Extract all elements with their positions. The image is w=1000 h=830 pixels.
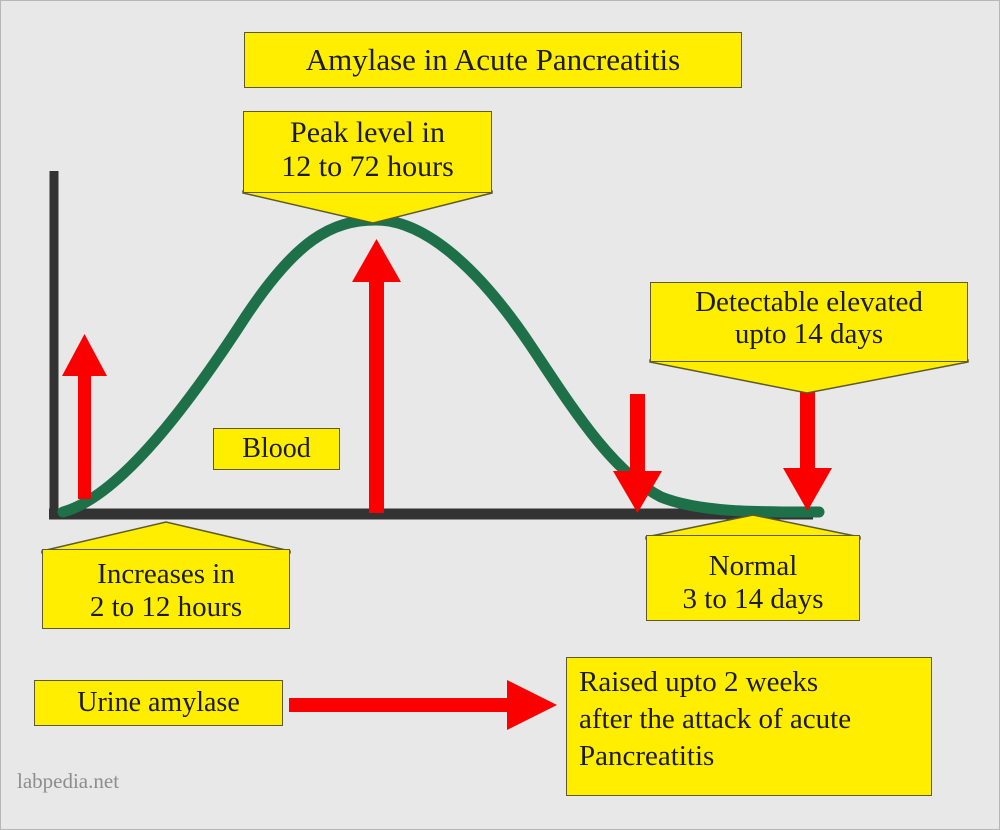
peak-level-callout: Peak level in 12 to 72 hours xyxy=(243,111,492,193)
detectable-callout-tail xyxy=(650,360,968,393)
detectable-elevated-label: Detectable elevated upto 14 days xyxy=(651,286,967,351)
normal-label: Normal 3 to 14 days xyxy=(647,550,859,615)
arrow-urine-right xyxy=(289,680,557,730)
increases-callout: Increases in 2 to 12 hours xyxy=(42,549,290,629)
blood-label-box: Blood xyxy=(213,428,340,470)
arrow-increases-up xyxy=(62,334,107,499)
title-box: Amylase in Acute Pancreatitis xyxy=(244,32,742,88)
arrow-peak-up xyxy=(352,239,401,513)
watermark: labpedia.net xyxy=(17,769,119,794)
detectable-elevated-callout: Detectable elevated upto 14 days xyxy=(650,282,968,362)
normal-callout: Normal 3 to 14 days xyxy=(646,535,860,621)
increases-label: Increases in 2 to 12 hours xyxy=(43,558,289,623)
urine-amylase-label: Urine amylase xyxy=(35,687,282,718)
peak-callout-tail xyxy=(243,191,492,223)
urine-amylase-box: Urine amylase xyxy=(34,680,283,726)
page-title: Amylase in Acute Pancreatitis xyxy=(245,43,741,78)
blood-label: Blood xyxy=(214,433,339,464)
raised-upto-2-weeks-label: Raised upto 2 weeks after the attack of … xyxy=(579,664,921,775)
diagram-canvas: Amylase in Acute Pancreatitis Peak level… xyxy=(0,0,1000,830)
raised-upto-2-weeks-box: Raised upto 2 weeks after the attack of … xyxy=(566,657,932,796)
peak-level-label: Peak level in 12 to 72 hours xyxy=(244,116,491,183)
